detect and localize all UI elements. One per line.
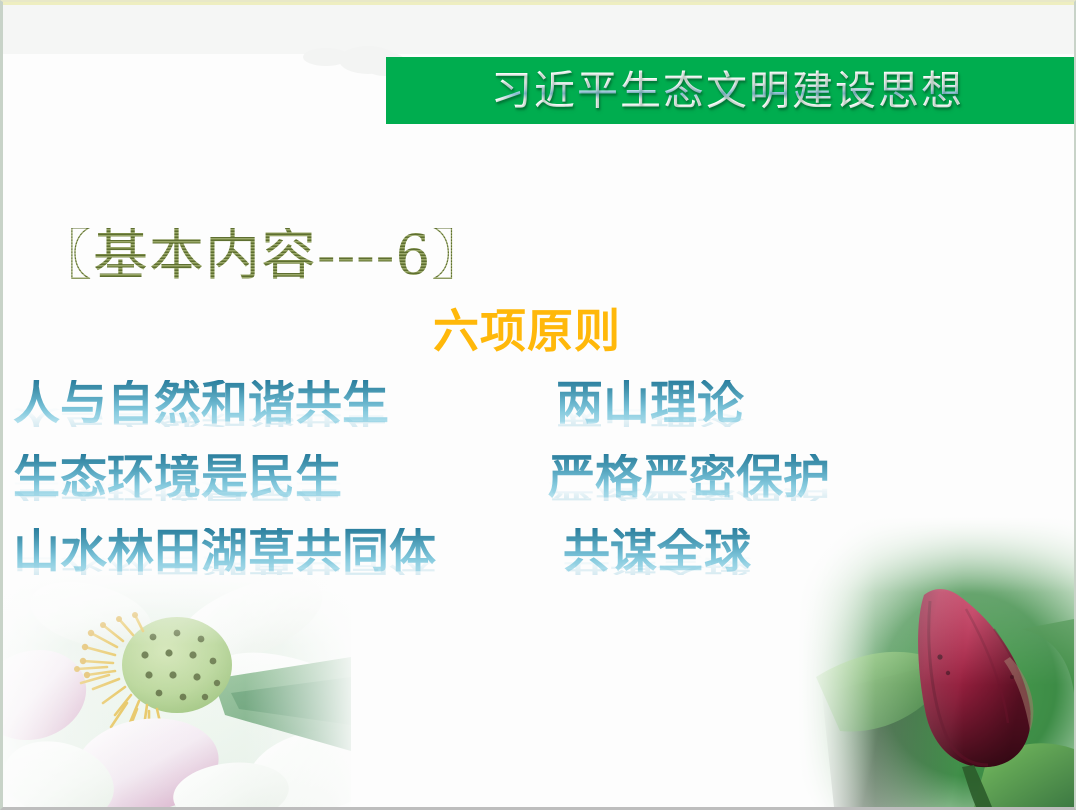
page-title: 习近平生态文明建设思想 [386, 70, 1076, 111]
rose-bud-photo [798, 517, 1074, 807]
principle-2-right: 严格严密保护 [548, 454, 830, 501]
slide-canvas: 习近平生态文明建设思想 〖基本内容----6〗 六项原则 人与自然和谐共生 人与… [0, 0, 1076, 810]
header-title-bar: 习近平生态文明建设思想 [386, 57, 1076, 124]
top-decorative-band [3, 2, 1074, 54]
top-yellow-rule [3, 2, 1074, 5]
principle-3-left: 山水林田湖草共同体 [13, 528, 436, 575]
section-heading: 〖基本内容----6〗 [37, 228, 487, 283]
principle-2-left: 生态环境是民生 [13, 454, 342, 501]
lotus-flower-photo [0, 575, 351, 807]
subtitle: 六项原则 [433, 308, 621, 354]
lotus-illustration [0, 575, 351, 807]
principle-1-right: 两山理论 [556, 380, 744, 427]
rose-illustration [798, 517, 1074, 807]
principle-1-left: 人与自然和谐共生 [13, 380, 389, 427]
principle-row-1: 人与自然和谐共生 人与自然和谐共生 两山理论 两山理论 [3, 380, 1074, 454]
principle-3-right: 共谋全球 [563, 528, 751, 575]
